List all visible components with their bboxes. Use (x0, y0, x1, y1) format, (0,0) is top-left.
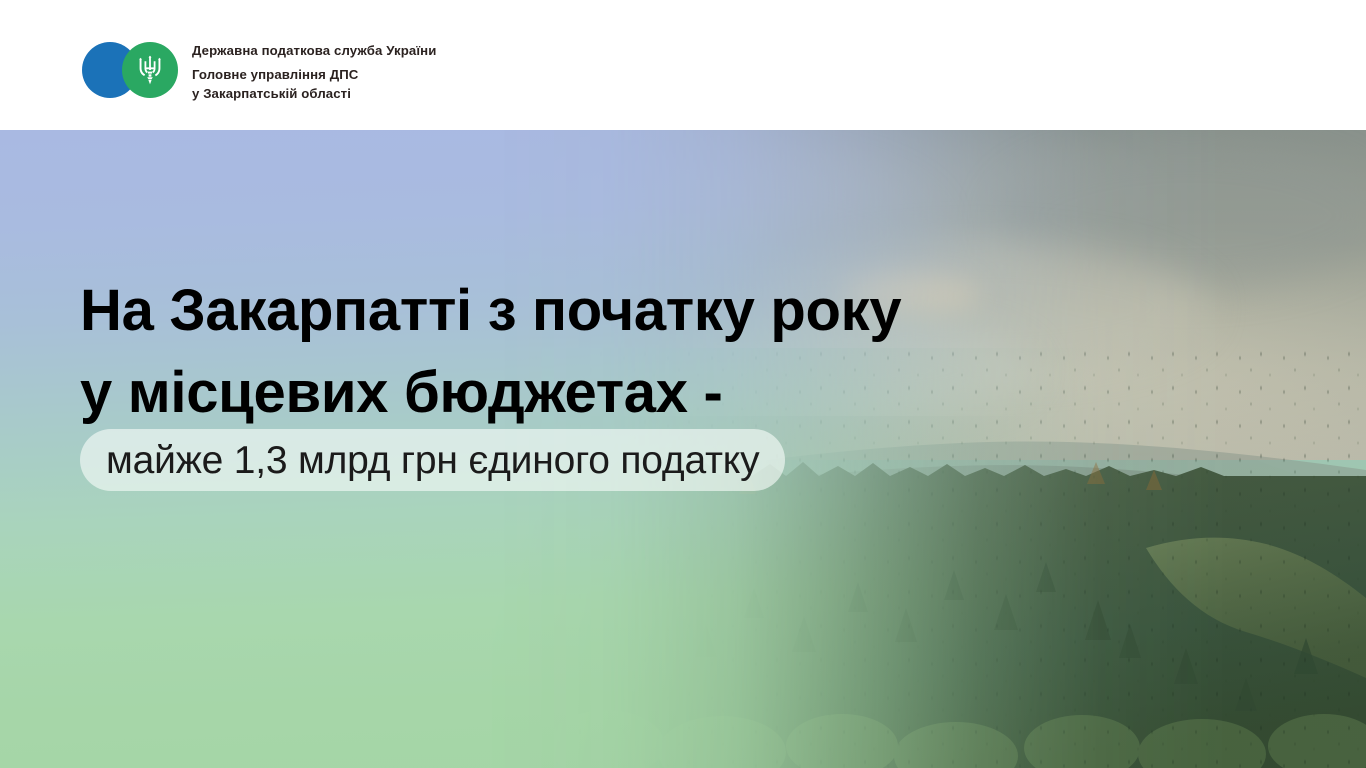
headline-line-2: у місцевих бюджетах - (80, 352, 1080, 434)
organisation-name: Державна податкова служба України Головн… (192, 42, 436, 103)
org-line-3: у Закарпатській області (192, 85, 436, 104)
logo-marks (82, 42, 178, 98)
hero-headline: На Закарпатті з початку року у місцевих … (80, 270, 1080, 434)
headline-line-1: На Закарпатті з початку року (80, 270, 1080, 352)
hero-subtitle-pill: майже 1,3 млрд грн єдиного податку (80, 429, 785, 491)
banner-root: На Закарпатті з початку року у місцевих … (0, 0, 1366, 768)
organisation-logo[interactable]: Державна податкова служба України Головн… (82, 42, 436, 103)
ukraine-trident-icon (122, 42, 178, 98)
hero-subtitle-text: майже 1,3 млрд грн єдиного податку (106, 441, 759, 480)
org-line-2: Головне управління ДПС (192, 66, 436, 85)
site-header: Державна податкова служба України Головн… (0, 0, 1366, 130)
hero-content: На Закарпатті з початку року у місцевих … (0, 130, 1366, 768)
org-line-1: Державна податкова служба України (192, 43, 436, 58)
